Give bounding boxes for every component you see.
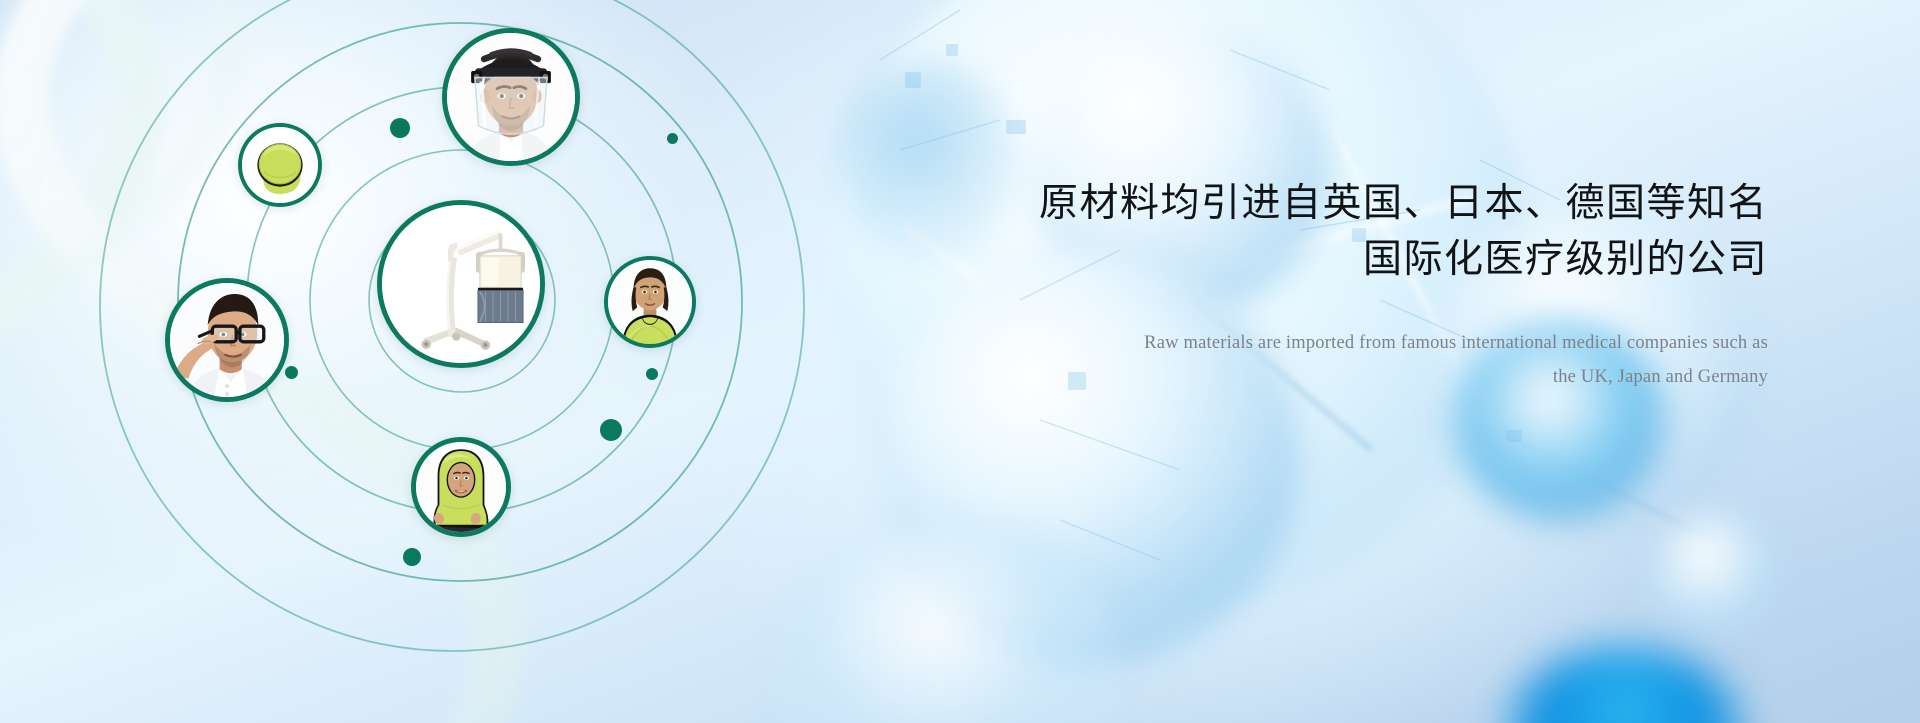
badge-ceiling-shield[interactable] xyxy=(377,200,545,368)
orbit-dot-1 xyxy=(390,118,410,138)
badge-protective-glasses-man[interactable] xyxy=(165,278,289,402)
badge-face-shield-man[interactable] xyxy=(442,28,580,166)
bg-bond-4 xyxy=(1499,430,1715,543)
orbit-dot-6 xyxy=(403,548,421,566)
orbit-dot-2 xyxy=(285,366,298,379)
hero-banner: 原材料均引进自英国、日本、德国等知名 国际化医疗级别的公司 Raw materi… xyxy=(0,0,1920,723)
subtitle: Raw materials are imported from famous i… xyxy=(1008,326,1768,394)
protective-cap-art xyxy=(242,127,318,203)
thyroid-collar-woman-art xyxy=(608,260,692,344)
orbit-dot-5 xyxy=(600,419,622,441)
headline-line-2: 国际化医疗级别的公司 xyxy=(1008,232,1768,288)
bg-sphere-small-right xyxy=(1650,510,1780,640)
protective-hood-woman-art xyxy=(416,442,506,532)
protective-glasses-man-art xyxy=(170,283,284,397)
orbit-dot-4 xyxy=(646,368,658,380)
headline: 原材料均引进自英国、日本、德国等知名 国际化医疗级别的公司 xyxy=(1008,176,1768,288)
subtitle-line-1: Raw materials are imported from famous i… xyxy=(1144,333,1768,353)
bg-sphere-bright-bottom xyxy=(1505,648,1745,723)
badge-protective-cap[interactable] xyxy=(238,123,322,207)
ceiling-shield-art xyxy=(382,205,540,363)
badge-protective-hood-woman[interactable] xyxy=(411,437,511,537)
badge-thyroid-collar-woman[interactable] xyxy=(604,256,696,348)
banner-copy: 原材料均引进自英国、日本、德国等知名 国际化医疗级别的公司 Raw materi… xyxy=(1008,176,1768,394)
face-shield-man-art xyxy=(447,33,575,161)
orbit-dot-3 xyxy=(667,133,678,144)
subtitle-line-2: the UK, Japan and Germany xyxy=(1008,360,1768,394)
headline-line-1: 原材料均引进自英国、日本、德国等知名 xyxy=(1039,182,1768,225)
